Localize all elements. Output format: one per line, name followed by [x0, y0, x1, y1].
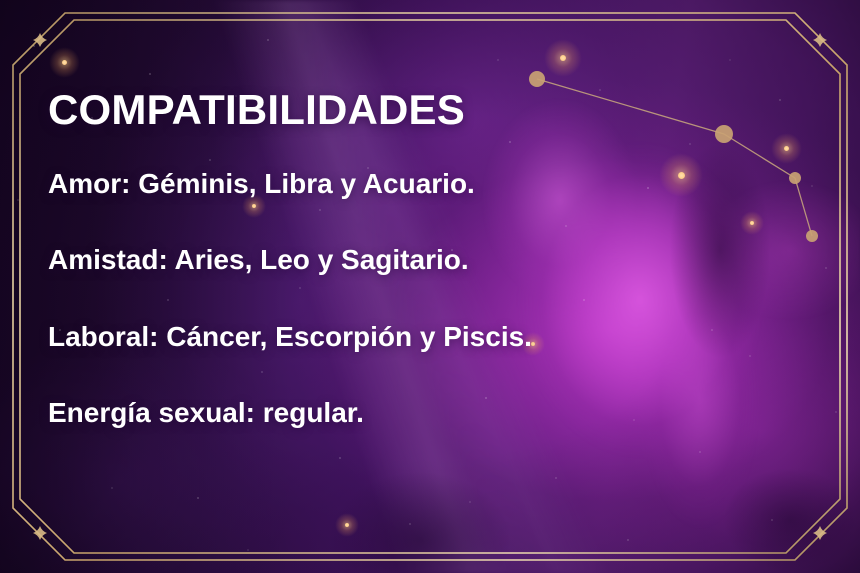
frame-sparkle-icon [813, 33, 827, 47]
compatibility-line-laboral: Laboral: Cáncer, Escorpión y Piscis. [48, 320, 788, 354]
constellation-node [529, 71, 545, 87]
constellation-node [806, 230, 818, 242]
poster-content: COMPATIBILIDADES Amor: Géminis, Libra y … [48, 88, 788, 430]
constellation-node [789, 172, 801, 184]
frame-sparkle-icon [33, 526, 47, 540]
constellation-link [795, 178, 812, 236]
page-title: COMPATIBILIDADES [48, 88, 788, 133]
compatibility-line-amor: Amor: Géminis, Libra y Acuario. [48, 167, 788, 201]
frame-sparkle-icon [33, 33, 47, 47]
compatibility-line-energia: Energía sexual: regular. [48, 396, 788, 430]
glow-star-icon [345, 523, 349, 527]
compatibility-line-amistad: Amistad: Aries, Leo y Sagitario. [48, 243, 788, 277]
horoscope-compatibility-poster: COMPATIBILIDADES Amor: Géminis, Libra y … [0, 0, 860, 573]
compatibility-list: Amor: Géminis, Libra y Acuario.Amistad: … [48, 167, 788, 430]
frame-sparkle-icon [813, 526, 827, 540]
glow-star-icon [560, 55, 566, 61]
glow-star-icon [62, 60, 67, 65]
